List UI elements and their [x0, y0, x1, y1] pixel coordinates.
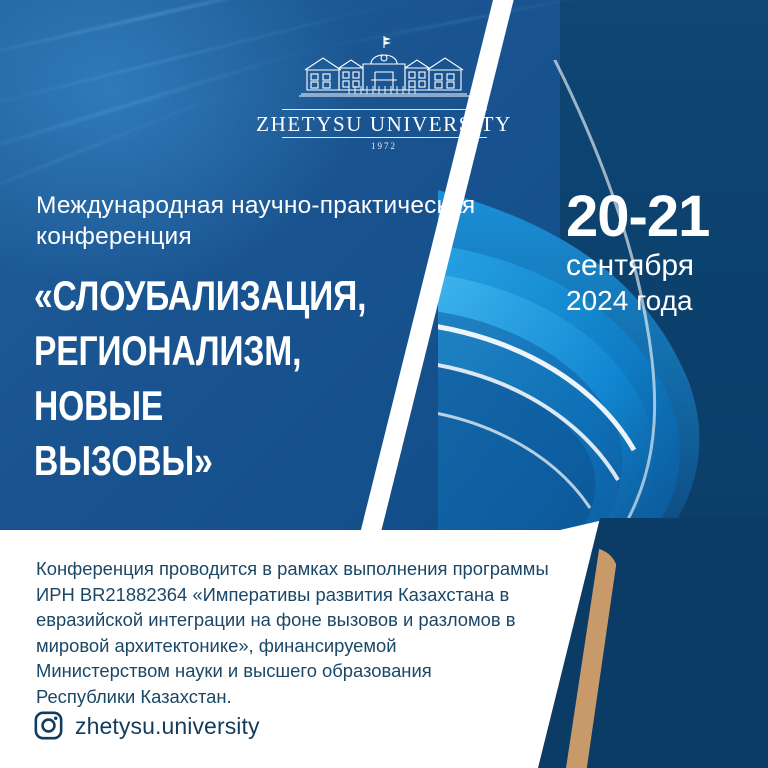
event-date-days: 20-21 — [566, 188, 756, 246]
logo-divider-top — [282, 109, 487, 110]
description-line: Министерством науки и высшего образовани… — [36, 658, 606, 684]
event-date-year: 2024 года — [566, 284, 756, 318]
page-title: «СЛОУБАЛИЗАЦИЯ, РЕГИОНАЛИЗМ, НОВЫЕ ВЫЗОВ… — [34, 268, 410, 488]
description-line: мировой архитектонике», финансируемой — [36, 633, 606, 659]
logo-divider-bottom — [282, 137, 487, 138]
event-date-month: сентября — [566, 248, 756, 284]
event-kicker: Международная научно-практическая конфер… — [36, 190, 536, 252]
university-building-icon — [279, 34, 489, 106]
social-link[interactable]: zhetysu.university — [33, 710, 260, 741]
description-line: ИРН BR21882364 «Императивы развития Каза… — [36, 582, 606, 608]
conference-poster: ZHETYSU UNIVERSITY 1972 Международная на… — [0, 0, 768, 768]
description-line: евразийской интеграции на фоне вызовов и… — [36, 607, 606, 633]
university-name: ZHETYSU UNIVERSITY — [256, 112, 512, 136]
founded-year: 1972 — [371, 141, 397, 151]
event-date: 20-21 сентября 2024 года — [566, 188, 756, 318]
description-line: Республики Казахстан. — [36, 684, 606, 710]
description-paragraph: Конференция проводится в рамках выполнен… — [36, 556, 606, 709]
social-handle[interactable]: zhetysu.university — [75, 713, 260, 739]
university-logo: ZHETYSU UNIVERSITY 1972 — [0, 34, 768, 151]
description-line: Конференция проводится в рамках выполнен… — [36, 556, 606, 582]
instagram-icon[interactable] — [33, 710, 64, 741]
